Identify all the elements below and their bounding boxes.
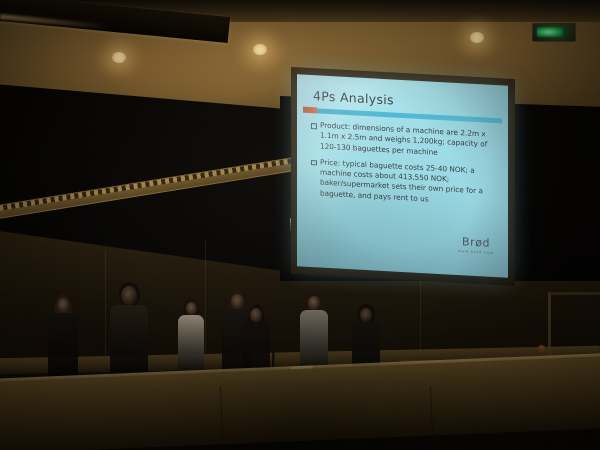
presenter-head (250, 308, 262, 322)
lecture-hall-photo: 4Ps Analysis Product: dimensions of a ma… (0, 0, 600, 450)
bullet-text: typical baguette costs 25-40 NOK; a mach… (320, 159, 483, 204)
bullet-label: Price: (320, 157, 340, 167)
slide-bullet-product: Product: dimensions of a machine are 2.2… (311, 120, 497, 161)
brand-logo-tagline: www.brod.com (458, 249, 494, 255)
slide-accent-tab (303, 107, 317, 114)
presenter-head (360, 308, 372, 322)
presenter-head (186, 302, 197, 315)
presenter-head (308, 296, 320, 310)
presenter-head (121, 286, 137, 305)
ceiling-downlight-2 (253, 44, 267, 55)
projection-screen[interactable]: 4Ps Analysis Product: dimensions of a ma… (297, 74, 508, 277)
emergency-exit-sign (532, 23, 576, 42)
slide-title: 4Ps Analysis (313, 88, 394, 107)
downlight-glow (232, 28, 288, 72)
slide-bullet-list: Product: dimensions of a machine are 2.2… (311, 120, 497, 214)
exit-sign-lamp (537, 27, 563, 37)
slide-bullet-price: Price: typical baguette costs 25-40 NOK;… (311, 157, 497, 208)
brand-logo: Brød www.brod.com (458, 235, 494, 255)
brand-logo-name: Brød (458, 235, 494, 250)
downlight-glow (450, 17, 504, 59)
ceiling-downlight-1 (112, 52, 126, 63)
bullet-label: Product: (320, 121, 350, 132)
presenter-head (57, 298, 70, 313)
ceiling-downlight-3 (470, 32, 484, 43)
downlight-glow (93, 37, 145, 79)
